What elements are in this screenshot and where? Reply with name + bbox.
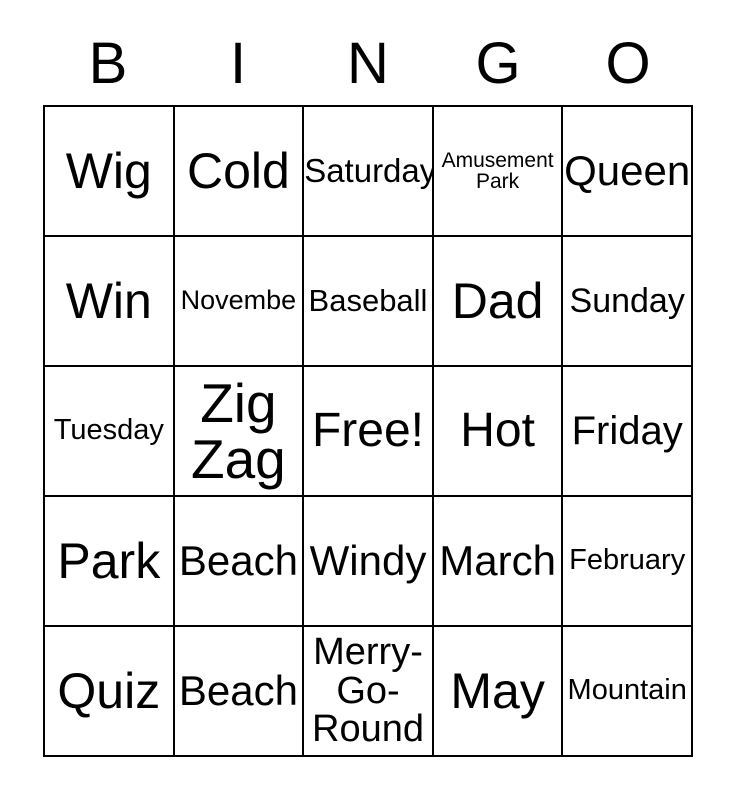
bingo-cell-label: Hot [434, 407, 562, 456]
bingo-cell-r1c3[interactable]: Saturday [304, 107, 434, 237]
bingo-cell-r1c1[interactable]: Wig [45, 107, 175, 237]
bingo-cell-label: Win [45, 276, 173, 327]
bingo-grid: WigColdSaturdayAmusement ParkQueenWinNov… [43, 105, 693, 757]
bingo-cell-r2c5[interactable]: Sunday [563, 237, 693, 367]
bingo-header-letter-b: B [43, 35, 173, 93]
bingo-cell-r2c2[interactable]: Novembe [175, 237, 305, 367]
bingo-header-letter-g: G [433, 35, 563, 93]
bingo-header: BINGO [43, 22, 693, 105]
bingo-cell-r4c1[interactable]: Park [45, 497, 175, 627]
bingo-cell-label: Queen [563, 150, 691, 193]
bingo-cell-label: Beach [175, 670, 303, 713]
bingo-cell-r2c4[interactable]: Dad [434, 237, 564, 367]
bingo-cell-r2c3[interactable]: Baseball [304, 237, 434, 367]
bingo-cell-label: February [563, 546, 691, 576]
bingo-cell-r4c3[interactable]: Windy [304, 497, 434, 627]
bingo-cell-r1c4[interactable]: Amusement Park [434, 107, 564, 237]
bingo-cell-label: Mountain [563, 676, 691, 706]
bingo-cell-r4c4[interactable]: March [434, 497, 564, 627]
bingo-cell-r3c2[interactable]: Zig Zag [175, 367, 305, 497]
bingo-cell-label: Park [45, 536, 173, 587]
bingo-cell-r1c5[interactable]: Queen [563, 107, 693, 237]
bingo-cell-label: Friday [563, 411, 691, 452]
bingo-cell-label: Sunday [563, 284, 691, 319]
bingo-cell-r5c4[interactable]: May [434, 627, 564, 757]
bingo-cell-label: Cold [175, 146, 303, 197]
bingo-cell-label: Merry- Go- Round [304, 633, 432, 749]
bingo-header-letter-i: I [173, 35, 303, 93]
bingo-cell-label: Dad [434, 276, 562, 327]
bingo-cell-label: Wig [45, 146, 173, 197]
bingo-cell-label: March [434, 540, 562, 583]
bingo-cell-label: Saturday [304, 154, 432, 188]
bingo-cell-r5c5[interactable]: Mountain [563, 627, 693, 757]
bingo-cell-r4c2[interactable]: Beach [175, 497, 305, 627]
bingo-cell-label: Beach [175, 540, 303, 583]
bingo-cell-label: Windy [304, 540, 432, 583]
bingo-cell-r2c1[interactable]: Win [45, 237, 175, 367]
bingo-cell-label: Baseball [304, 285, 432, 317]
bingo-cell-label: Free! [304, 407, 432, 456]
bingo-cell-label: Quiz [45, 666, 173, 717]
bingo-header-letter-n: N [303, 35, 433, 93]
bingo-free-space[interactable]: Free! [304, 367, 434, 497]
bingo-cell-r5c3[interactable]: Merry- Go- Round [304, 627, 434, 757]
bingo-cell-label: Novembe [181, 287, 297, 315]
bingo-cell-r3c4[interactable]: Hot [434, 367, 564, 497]
bingo-cell-r5c2[interactable]: Beach [175, 627, 305, 757]
bingo-cell-r3c1[interactable]: Tuesday [45, 367, 175, 497]
bingo-card: BINGO WigColdSaturdayAmusement ParkQueen… [0, 0, 736, 800]
bingo-cell-label: Tuesday [45, 416, 173, 446]
bingo-header-letter-o: O [563, 35, 693, 93]
bingo-cell-r3c5[interactable]: Friday [563, 367, 693, 497]
bingo-cell-label: Amusement Park [434, 150, 562, 193]
bingo-cell-r4c5[interactable]: February [563, 497, 693, 627]
bingo-cell-label: May [434, 666, 562, 717]
bingo-cell-label: Zig Zag [175, 375, 303, 487]
bingo-cell-r5c1[interactable]: Quiz [45, 627, 175, 757]
bingo-cell-r1c2[interactable]: Cold [175, 107, 305, 237]
